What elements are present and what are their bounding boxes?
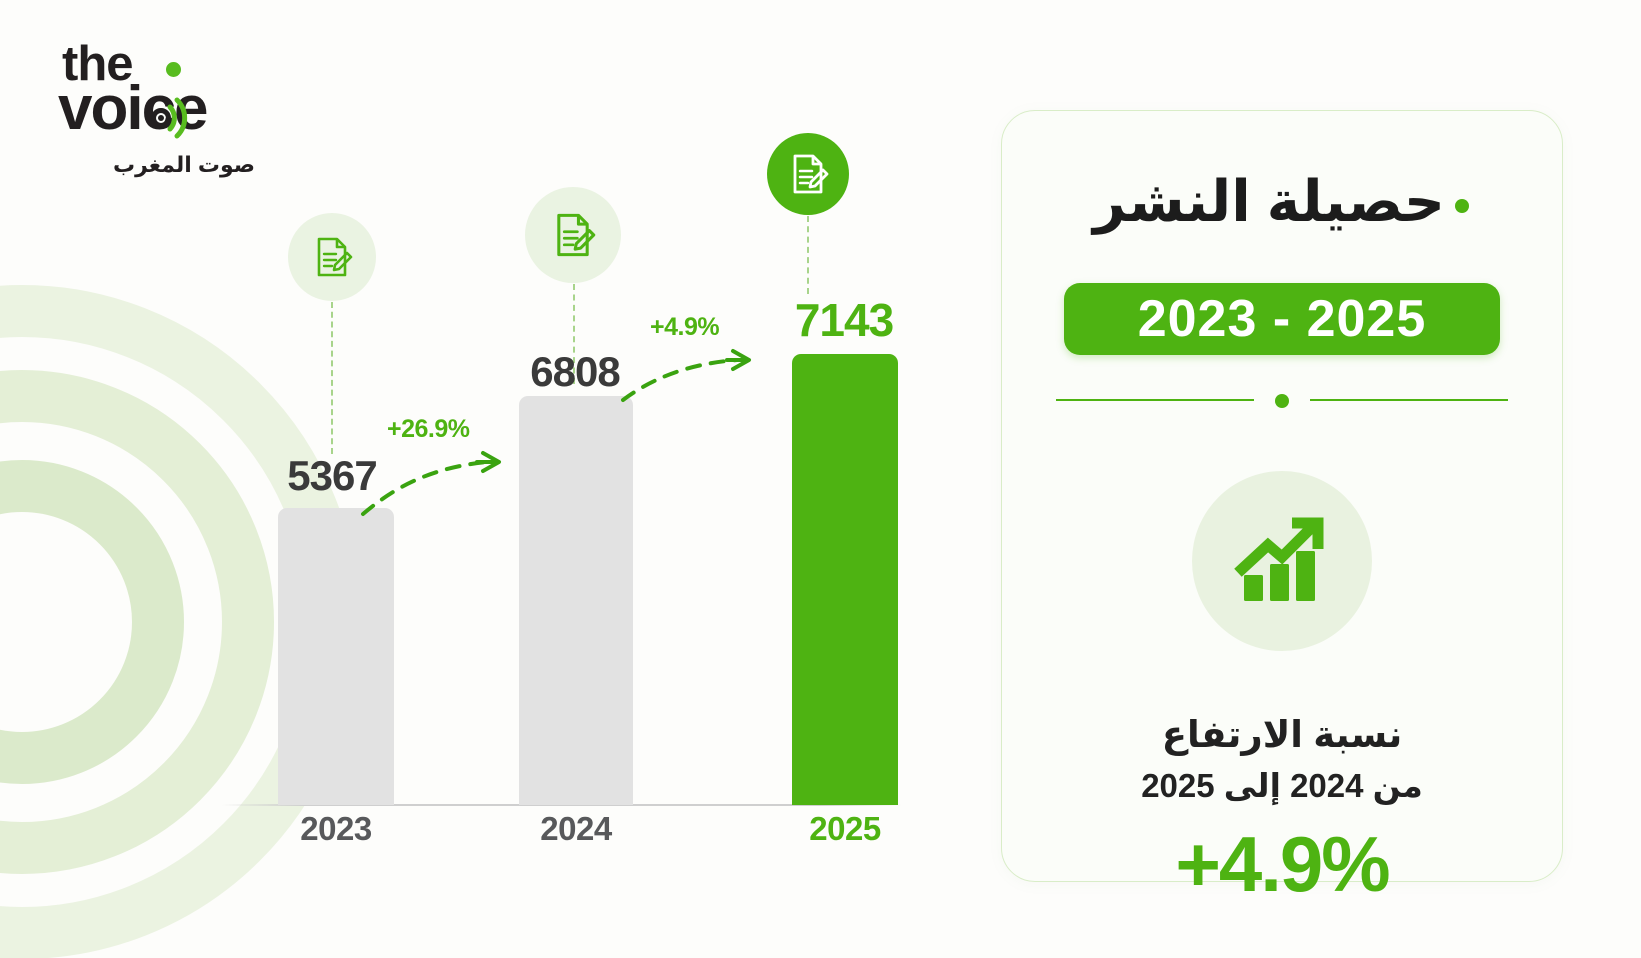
card-title: حصيلة النشر — [1093, 170, 1445, 234]
document-edit-icon — [549, 211, 597, 259]
marker-bubble-2023 — [288, 213, 376, 301]
bar-chart: 5367 2023 +26.9% 6808 2024 +4.9% — [0, 0, 960, 958]
bar-year-2023: 2023 — [256, 810, 416, 848]
marker-stem-2023 — [331, 302, 333, 454]
infographic-canvas: the voice صوت المغرب 5367 — [0, 0, 1641, 958]
growth-chart-arrow-icon — [1230, 509, 1334, 613]
year-range-badge: 2023 - 2025 — [1064, 283, 1500, 355]
summary-card: حصيلة النشر 2023 - 2025 نسبة الارتفاع من… — [1001, 110, 1563, 882]
bar-year-2025: 2025 — [765, 810, 925, 848]
marker-bubble-2024 — [525, 187, 621, 283]
marker-stem-2025 — [807, 216, 809, 294]
year-range-label: 2023 - 2025 — [1138, 289, 1427, 349]
bar-value-2025: 7143 — [764, 293, 924, 347]
trend-icon-bubble — [1192, 471, 1372, 651]
card-growth-value: +4.9% — [1002, 819, 1562, 910]
card-subtitle-secondary: من 2024 إلى 2025 — [1032, 766, 1532, 805]
document-edit-icon — [786, 152, 830, 196]
bar-2024[interactable] — [519, 396, 633, 805]
card-subtitle-primary: نسبة الارتفاع — [1032, 713, 1532, 756]
document-edit-icon — [310, 235, 354, 279]
divider-line-left — [1056, 399, 1254, 401]
bar-2025[interactable] — [792, 354, 898, 805]
marker-bubble-2025 — [767, 133, 849, 215]
card-divider — [1056, 393, 1508, 407]
bar-year-2024: 2024 — [496, 810, 656, 848]
card-title-row: حصيلة النشر — [1036, 171, 1528, 234]
dot-icon — [1455, 199, 1469, 213]
growth-arrow-2024-2025 — [615, 338, 775, 410]
divider-line-right — [1310, 399, 1508, 401]
growth-arrow-2023-2024 — [355, 440, 525, 520]
bar-2023[interactable] — [278, 508, 394, 805]
dot-icon — [1275, 394, 1289, 408]
